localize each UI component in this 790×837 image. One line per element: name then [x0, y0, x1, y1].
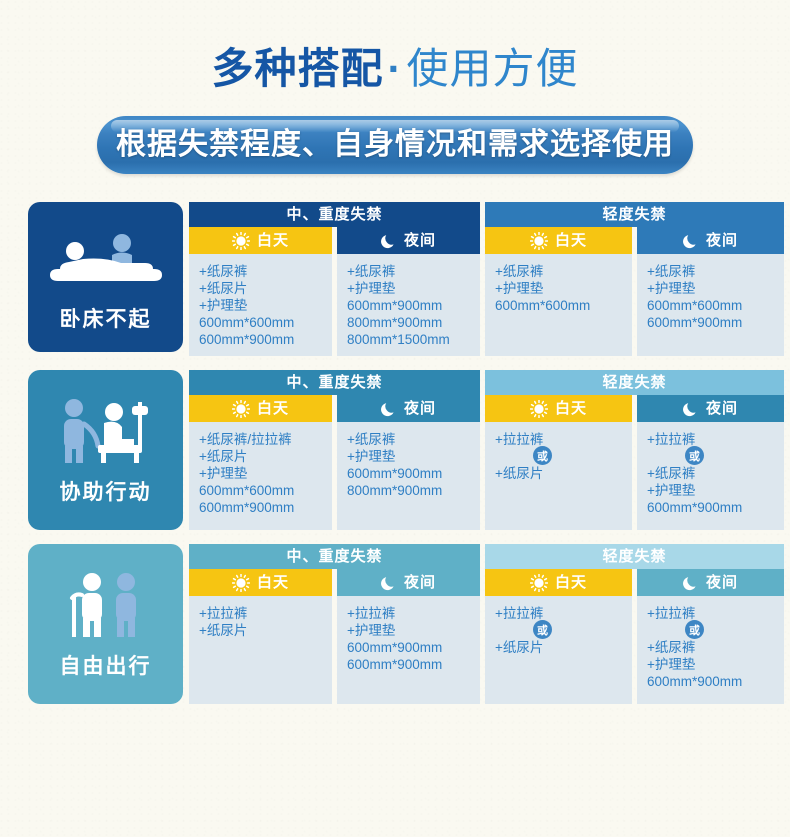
- product-line: 600mm*900mm: [347, 297, 470, 314]
- time-column: 白天+纸尿裤/拉拉裤+纸尿片+护理垫600mm*600mm600mm*900mm: [189, 395, 332, 530]
- product-line: +纸尿片: [199, 280, 322, 297]
- product-line: +护理垫: [347, 280, 470, 297]
- product-cell: +拉拉裤+纸尿裤+护理垫600mm*900mm或: [637, 422, 784, 530]
- page-title-strong: 多种搭配: [211, 45, 383, 92]
- time-header-night: 夜间: [337, 569, 480, 596]
- severity-grid: 中、重度失禁轻度失禁白天+纸尿裤+纸尿片+护理垫600mm*600mm600mm…: [189, 202, 784, 356]
- cell-spacer: [495, 622, 622, 639]
- product-line: 600mm*900mm: [647, 314, 774, 331]
- sun-icon: [530, 574, 548, 592]
- moon-icon: [683, 401, 699, 417]
- assisted-mobility-icon: [50, 398, 162, 464]
- time-header-day: 白天: [189, 395, 332, 422]
- time-header-day: 白天: [485, 569, 632, 596]
- product-line: +纸尿裤: [347, 263, 470, 280]
- time-header-label: 白天: [257, 395, 289, 422]
- time-column: 夜间+纸尿裤+护理垫600mm*900mm800mm*900mm800mm*15…: [337, 227, 480, 356]
- table-row: 卧床不起中、重度失禁轻度失禁白天+纸尿裤+纸尿片+护理垫600mm*600mm6…: [28, 202, 762, 356]
- category-icon: [50, 394, 162, 464]
- cell-spacer: [495, 448, 622, 465]
- time-header-label: 白天: [555, 569, 587, 596]
- sun-icon: [530, 232, 548, 250]
- product-cell: +纸尿裤+护理垫600mm*600mm: [485, 254, 632, 356]
- sun-icon: [530, 400, 548, 418]
- product-line: 600mm*600mm: [199, 482, 322, 499]
- bedridden-icon: [50, 229, 162, 291]
- severity-header-severe: 中、重度失禁: [189, 370, 480, 395]
- product-line: +拉拉裤: [495, 605, 622, 622]
- severity-grid: 中、重度失禁轻度失禁白天+纸尿裤/拉拉裤+纸尿片+护理垫600mm*600mm6…: [189, 370, 784, 530]
- page-header: 多种搭配·使用方便 根据失禁程度、自身情况和需求选择使用: [0, 0, 790, 174]
- time-header-day: 白天: [189, 227, 332, 254]
- product-line: +纸尿片: [199, 622, 322, 639]
- time-header-label: 夜间: [706, 227, 738, 254]
- severity-header-row: 中、重度失禁轻度失禁: [189, 370, 784, 395]
- time-columns: 白天+纸尿裤/拉拉裤+纸尿片+护理垫600mm*600mm600mm*900mm…: [189, 395, 784, 530]
- product-line: +纸尿裤: [495, 263, 622, 280]
- product-cell: +拉拉裤+纸尿裤+护理垫600mm*900mm或: [637, 596, 784, 704]
- sun-icon: [232, 232, 250, 250]
- product-line: 600mm*600mm: [495, 297, 622, 314]
- moon-icon: [381, 401, 397, 417]
- product-line: +纸尿裤: [647, 639, 774, 656]
- product-line: +拉拉裤: [495, 431, 622, 448]
- subtitle-banner: 根据失禁程度、自身情况和需求选择使用: [97, 116, 693, 174]
- page-title-light: 使用方便: [407, 45, 579, 92]
- time-column: 白天+拉拉裤+纸尿片: [189, 569, 332, 704]
- product-line: 600mm*900mm: [347, 656, 470, 673]
- time-column: 白天+拉拉裤+纸尿片或: [485, 569, 632, 704]
- table-row: 协助行动中、重度失禁轻度失禁白天+纸尿裤/拉拉裤+纸尿片+护理垫600mm*60…: [28, 370, 762, 530]
- time-header-day: 白天: [485, 395, 632, 422]
- time-header-label: 夜间: [404, 227, 436, 254]
- severity-header-mild: 轻度失禁: [485, 544, 784, 569]
- time-header-day: 白天: [485, 227, 632, 254]
- category-label: 协助行动: [60, 476, 152, 506]
- product-cell: +拉拉裤+纸尿片: [189, 596, 332, 704]
- product-line: 600mm*900mm: [199, 331, 322, 348]
- product-line: 600mm*900mm: [647, 673, 774, 690]
- time-header-label: 白天: [257, 227, 289, 254]
- product-line: +拉拉裤: [199, 605, 322, 622]
- product-line: +拉拉裤: [647, 431, 774, 448]
- time-header-label: 白天: [257, 569, 289, 596]
- moon-icon: [683, 575, 699, 591]
- product-line: 600mm*900mm: [347, 639, 470, 656]
- table-row: 自由出行中、重度失禁轻度失禁白天+拉拉裤+纸尿片夜间+拉拉裤+护理垫600mm*…: [28, 544, 762, 704]
- product-cell: +拉拉裤+纸尿片或: [485, 422, 632, 530]
- product-line: +纸尿裤: [199, 263, 322, 280]
- product-cell: +纸尿裤+纸尿片+护理垫600mm*600mm600mm*900mm: [189, 254, 332, 356]
- time-header-night: 夜间: [637, 227, 784, 254]
- product-line: 800mm*900mm: [347, 482, 470, 499]
- time-header-night: 夜间: [337, 227, 480, 254]
- time-header-day: 白天: [189, 569, 332, 596]
- moon-icon: [381, 575, 397, 591]
- product-line: +纸尿裤: [647, 263, 774, 280]
- product-line: +纸尿裤: [347, 431, 470, 448]
- product-line: 600mm*900mm: [347, 465, 470, 482]
- product-line: +护理垫: [647, 656, 774, 673]
- page-title-separator: ·: [384, 45, 407, 92]
- category-tile-1[interactable]: 卧床不起: [28, 202, 183, 352]
- time-header-night: 夜间: [637, 395, 784, 422]
- product-line: 600mm*600mm: [647, 297, 774, 314]
- time-header-label: 夜间: [404, 569, 436, 596]
- product-line: 600mm*900mm: [647, 499, 774, 516]
- time-header-label: 白天: [555, 227, 587, 254]
- cell-spacer: [647, 448, 774, 465]
- moon-icon: [683, 233, 699, 249]
- product-line: +纸尿片: [199, 448, 322, 465]
- product-cell: +纸尿裤+护理垫600mm*900mm800mm*900mm800mm*1500…: [337, 254, 480, 356]
- product-cell: +拉拉裤+护理垫600mm*900mm600mm*900mm: [337, 596, 480, 704]
- product-line: 800mm*1500mm: [347, 331, 470, 348]
- page-title: 多种搭配·使用方便: [0, 48, 790, 90]
- severity-header-mild: 轻度失禁: [485, 370, 784, 395]
- time-column: 夜间+拉拉裤+护理垫600mm*900mm600mm*900mm: [337, 569, 480, 704]
- severity-header-row: 中、重度失禁轻度失禁: [189, 544, 784, 569]
- severity-header-severe: 中、重度失禁: [189, 544, 480, 569]
- moon-icon: [381, 233, 397, 249]
- category-label: 自由出行: [60, 650, 152, 680]
- time-column: 白天+纸尿裤+纸尿片+护理垫600mm*600mm600mm*900mm: [189, 227, 332, 356]
- time-header-night: 夜间: [337, 395, 480, 422]
- product-line: +纸尿片: [495, 465, 622, 482]
- severity-header-mild: 轻度失禁: [485, 202, 784, 227]
- sun-icon: [232, 400, 250, 418]
- or-badge: 或: [685, 620, 704, 639]
- time-column: 夜间+拉拉裤+纸尿裤+护理垫600mm*900mm或: [637, 395, 784, 530]
- comparison-table: 卧床不起中、重度失禁轻度失禁白天+纸尿裤+纸尿片+护理垫600mm*600mm6…: [0, 202, 790, 704]
- product-line: +拉拉裤: [647, 605, 774, 622]
- or-badge: 或: [533, 446, 552, 465]
- product-cell: +纸尿裤+护理垫600mm*600mm600mm*900mm: [637, 254, 784, 356]
- time-header-label: 白天: [555, 395, 587, 422]
- product-line: 800mm*900mm: [347, 314, 470, 331]
- time-columns: 白天+纸尿裤+纸尿片+护理垫600mm*600mm600mm*900mm夜间+纸…: [189, 227, 784, 356]
- product-line: +护理垫: [647, 482, 774, 499]
- product-line: +护理垫: [647, 280, 774, 297]
- category-icon: [56, 568, 156, 638]
- time-columns: 白天+拉拉裤+纸尿片夜间+拉拉裤+护理垫600mm*900mm600mm*900…: [189, 569, 784, 704]
- product-cell: +拉拉裤+纸尿片或: [485, 596, 632, 704]
- product-cell: +纸尿裤/拉拉裤+纸尿片+护理垫600mm*600mm600mm*900mm: [189, 422, 332, 530]
- severity-grid: 中、重度失禁轻度失禁白天+拉拉裤+纸尿片夜间+拉拉裤+护理垫600mm*900m…: [189, 544, 784, 704]
- time-column: 夜间+纸尿裤+护理垫600mm*600mm600mm*900mm: [637, 227, 784, 356]
- product-line: +护理垫: [347, 622, 470, 639]
- time-column: 夜间+纸尿裤+护理垫600mm*900mm800mm*900mm: [337, 395, 480, 530]
- category-icon: [50, 221, 162, 291]
- product-line: +护理垫: [347, 448, 470, 465]
- or-badge: 或: [533, 620, 552, 639]
- category-tile-2[interactable]: 协助行动: [28, 370, 183, 530]
- category-label: 卧床不起: [60, 303, 152, 333]
- time-column: 白天+纸尿裤+护理垫600mm*600mm: [485, 227, 632, 356]
- time-header-night: 夜间: [637, 569, 784, 596]
- time-header-label: 夜间: [706, 395, 738, 422]
- product-line: +护理垫: [199, 465, 322, 482]
- time-column: 夜间+拉拉裤+纸尿裤+护理垫600mm*900mm或: [637, 569, 784, 704]
- cell-spacer: [647, 622, 774, 639]
- product-cell: +纸尿裤+护理垫600mm*900mm800mm*900mm: [337, 422, 480, 530]
- severity-header-row: 中、重度失禁轻度失禁: [189, 202, 784, 227]
- category-tile-3[interactable]: 自由出行: [28, 544, 183, 704]
- product-line: +拉拉裤: [347, 605, 470, 622]
- or-badge: 或: [685, 446, 704, 465]
- free-mobility-icon: [56, 572, 156, 638]
- product-line: +护理垫: [199, 297, 322, 314]
- time-header-label: 夜间: [404, 395, 436, 422]
- sun-icon: [232, 574, 250, 592]
- product-line: +纸尿片: [495, 639, 622, 656]
- time-header-label: 夜间: [706, 569, 738, 596]
- product-line: +纸尿裤/拉拉裤: [199, 431, 322, 448]
- product-line: +护理垫: [495, 280, 622, 297]
- severity-header-severe: 中、重度失禁: [189, 202, 480, 227]
- product-line: +纸尿裤: [647, 465, 774, 482]
- time-column: 白天+拉拉裤+纸尿片或: [485, 395, 632, 530]
- product-line: 600mm*600mm: [199, 314, 322, 331]
- product-line: 600mm*900mm: [199, 499, 322, 516]
- subtitle-text: 根据失禁程度、自身情况和需求选择使用: [97, 116, 693, 174]
